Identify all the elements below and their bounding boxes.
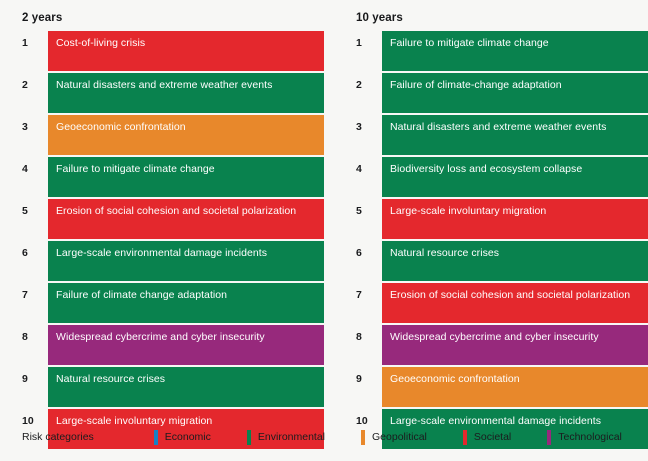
risk-label: Natural resource crises: [390, 247, 648, 261]
legend-label: Geopolitical: [372, 431, 427, 443]
risk-label: Failure to mitigate climate change: [56, 163, 318, 177]
risk-bar[interactable]: Natural resource crises: [382, 241, 648, 281]
legend-item[interactable]: Economic: [154, 430, 211, 445]
legend-swatch-icon: [361, 430, 365, 445]
risk-rank: 1: [22, 37, 44, 50]
risk-bar[interactable]: Geoeconomic confrontation: [48, 115, 324, 155]
legend-label: Economic: [165, 431, 211, 443]
risk-rank: 8: [356, 331, 378, 344]
legend-swatch-icon: [247, 430, 251, 445]
risk-bar[interactable]: Failure of climate-change adaptation: [382, 73, 648, 113]
risk-bar[interactable]: Erosion of social cohesion and societal …: [48, 199, 324, 239]
risk-rank: 6: [22, 247, 44, 260]
risk-rank: 9: [22, 373, 44, 386]
risk-row: 1Failure to mitigate climate change: [356, 31, 648, 71]
risk-row: 8Widespread cybercrime and cyber insecur…: [356, 325, 648, 365]
legend-swatch-icon: [154, 430, 158, 445]
risk-row: 1Cost-of-living crisis: [22, 31, 324, 71]
risk-row: 5Large-scale involuntary migration: [356, 199, 648, 239]
risk-label: Geoeconomic confrontation: [390, 373, 648, 387]
risk-row: 9Natural resource crises: [22, 367, 324, 407]
risk-bar[interactable]: Biodiversity loss and ecosystem collapse: [382, 157, 648, 197]
risk-bar[interactable]: Natural disasters and extreme weather ev…: [382, 115, 648, 155]
legend-item[interactable]: Societal: [463, 430, 511, 445]
risk-rank: 3: [22, 121, 44, 134]
risk-bar[interactable]: Natural resource crises: [48, 367, 324, 407]
risk-rank: 10: [356, 415, 378, 428]
risk-label: Widespread cybercrime and cyber insecuri…: [390, 331, 648, 345]
risk-label: Erosion of social cohesion and societal …: [56, 205, 318, 219]
column-title-2-years: 2 years: [22, 12, 62, 24]
risk-row: 4Biodiversity loss and ecosystem collaps…: [356, 157, 648, 197]
risk-row: 5Erosion of social cohesion and societal…: [22, 199, 324, 239]
legend: Risk categories EconomicEnvironmentalGeo…: [22, 428, 648, 446]
risk-bar[interactable]: Failure to mitigate climate change: [48, 157, 324, 197]
risk-row: 4Failure to mitigate climate change: [22, 157, 324, 197]
risk-rank: 4: [356, 163, 378, 176]
risk-rank: 5: [22, 205, 44, 218]
risk-label: Cost-of-living crisis: [56, 37, 318, 51]
risk-label: Geoeconomic confrontation: [56, 121, 318, 135]
risk-row: 8Widespread cybercrime and cyber insecur…: [22, 325, 324, 365]
legend-item[interactable]: Technological: [547, 430, 622, 445]
risk-rank: 1: [356, 37, 378, 50]
legend-label: Technological: [558, 431, 622, 443]
risk-row: 7Erosion of social cohesion and societal…: [356, 283, 648, 323]
risk-row: 6Large-scale environmental damage incide…: [22, 241, 324, 281]
risk-rank: 7: [22, 289, 44, 302]
risk-label: Large-scale involuntary migration: [390, 205, 648, 219]
risk-label: Failure to mitigate climate change: [390, 37, 648, 51]
risk-row: 3Geoeconomic confrontation: [22, 115, 324, 155]
global-risks-ranking-chart: 2 years 1Cost-of-living crisis2Natural d…: [0, 0, 648, 461]
risk-bar[interactable]: Widespread cybercrime and cyber insecuri…: [48, 325, 324, 365]
risk-rank: 2: [22, 79, 44, 92]
risk-bar[interactable]: Natural disasters and extreme weather ev…: [48, 73, 324, 113]
column-title-10-years: 10 years: [356, 12, 403, 24]
risk-label: Biodiversity loss and ecosystem collapse: [390, 163, 648, 177]
risk-rank: 2: [356, 79, 378, 92]
risk-row: 2Failure of climate-change adaptation: [356, 73, 648, 113]
legend-label: Societal: [474, 431, 511, 443]
risk-row: 3Natural disasters and extreme weather e…: [356, 115, 648, 155]
risk-bar[interactable]: Failure of climate change adaptation: [48, 283, 324, 323]
risk-label: Large-scale environmental damage inciden…: [56, 247, 318, 261]
risk-rank: 3: [356, 121, 378, 134]
risk-label: Large-scale environmental damage inciden…: [390, 415, 648, 429]
legend-swatch-icon: [547, 430, 551, 445]
risk-row: 7Failure of climate change adaptation: [22, 283, 324, 323]
risk-rank: 8: [22, 331, 44, 344]
risk-label: Widespread cybercrime and cyber insecuri…: [56, 331, 318, 345]
risk-bar[interactable]: Widespread cybercrime and cyber insecuri…: [382, 325, 648, 365]
risk-bar[interactable]: Failure to mitigate climate change: [382, 31, 648, 71]
risk-bar[interactable]: Large-scale environmental damage inciden…: [48, 241, 324, 281]
risk-rank: 7: [356, 289, 378, 302]
legend-item[interactable]: Geopolitical: [361, 430, 427, 445]
risk-rank: 10: [22, 415, 44, 428]
risk-label: Natural disasters and extreme weather ev…: [56, 79, 318, 93]
risk-label: Large-scale involuntary migration: [56, 415, 318, 429]
risk-label: Failure of climate-change adaptation: [390, 79, 648, 93]
risk-rank: 6: [356, 247, 378, 260]
risk-label: Erosion of social cohesion and societal …: [390, 289, 648, 303]
legend-item[interactable]: Environmental: [247, 430, 325, 445]
risk-rank: 9: [356, 373, 378, 386]
risk-rank: 5: [356, 205, 378, 218]
risk-label: Failure of climate change adaptation: [56, 289, 318, 303]
legend-label: Environmental: [258, 431, 325, 443]
legend-title: Risk categories: [22, 431, 94, 443]
risk-bar[interactable]: Geoeconomic confrontation: [382, 367, 648, 407]
risk-rank: 4: [22, 163, 44, 176]
risk-bar[interactable]: Erosion of social cohesion and societal …: [382, 283, 648, 323]
risk-label: Natural resource crises: [56, 373, 318, 387]
risk-row: 2Natural disasters and extreme weather e…: [22, 73, 324, 113]
risk-row: 9Geoeconomic confrontation: [356, 367, 648, 407]
risk-bar[interactable]: Cost-of-living crisis: [48, 31, 324, 71]
legend-swatch-icon: [463, 430, 467, 445]
risk-list-2-years: 1Cost-of-living crisis2Natural disasters…: [22, 31, 324, 451]
risk-label: Natural disasters and extreme weather ev…: [390, 121, 648, 135]
risk-list-10-years: 1Failure to mitigate climate change2Fail…: [356, 31, 648, 451]
risk-row: 6Natural resource crises: [356, 241, 648, 281]
risk-bar[interactable]: Large-scale involuntary migration: [382, 199, 648, 239]
